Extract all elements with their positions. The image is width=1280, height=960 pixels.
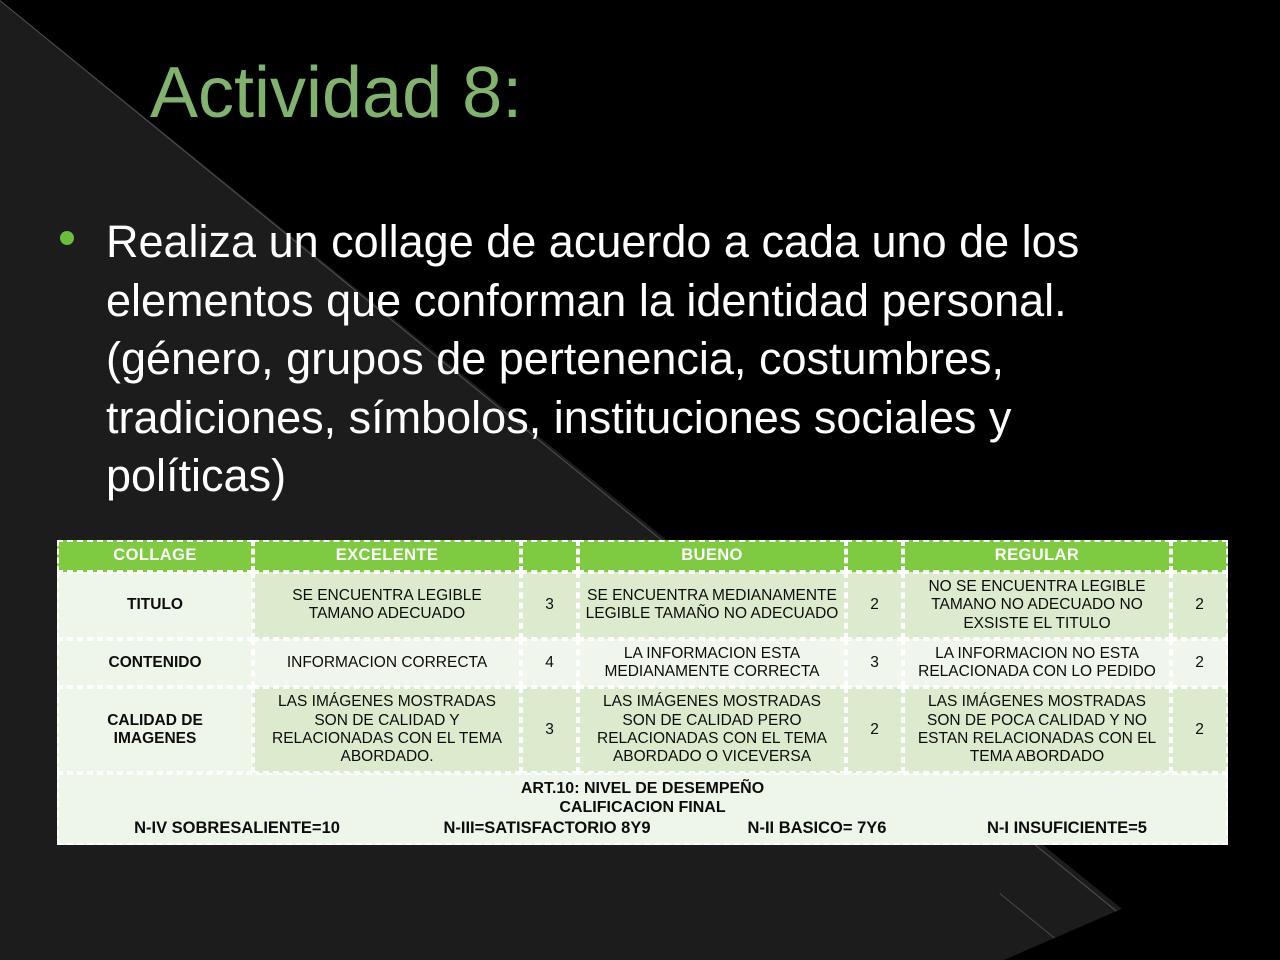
header-excelente: EXCELENTE <box>253 540 521 572</box>
slide-canvas: Actividad 8: Realiza un collage de acuer… <box>0 0 1280 960</box>
table-footer-row: ART.10: NIVEL DE DESEMPEÑO CALIFICACION … <box>57 773 1228 845</box>
cell-excelente: INFORMACION CORRECTA <box>253 639 521 688</box>
table-row: CALIDAD DE IMAGENES LAS IMÁGENES MOSTRAD… <box>57 687 1228 772</box>
row-criterion: TITULO <box>57 572 253 639</box>
cell-regular-score: 2 <box>1171 687 1228 772</box>
cell-excelente-score: 4 <box>521 639 578 688</box>
footer-line-desempeno: ART.10: NIVEL DE DESEMPEÑO <box>64 779 1221 799</box>
header-regular-score <box>1171 540 1228 572</box>
row-criterion: CALIDAD DE IMAGENES <box>57 687 253 772</box>
cell-bueno-score: 3 <box>846 639 903 688</box>
header-bueno: BUENO <box>578 540 846 572</box>
bullet-item-text: Realiza un collage de acuerdo a cada uno… <box>106 213 1200 506</box>
cell-regular-score: 2 <box>1171 639 1228 688</box>
cell-bueno: LA INFORMACION ESTA MEDIANAMENTE CORRECT… <box>578 639 846 688</box>
page-title: Actividad 8: <box>150 56 522 132</box>
cell-bueno: LAS IMÁGENES MOSTRADAS SON DE CALIDAD PE… <box>578 687 846 772</box>
scale-n4: N-IV SOBRESALIENTE=10 <box>72 818 402 839</box>
header-collage: COLLAGE <box>57 540 253 572</box>
scale-n1: N-I INSUFICIENTE=5 <box>942 818 1192 839</box>
cell-bueno-score: 2 <box>846 687 903 772</box>
header-excelente-score <box>521 540 578 572</box>
cell-excelente-score: 3 <box>521 572 578 639</box>
table-header-row: COLLAGE EXCELENTE BUENO REGULAR <box>57 540 1228 572</box>
bullet-list: Realiza un collage de acuerdo a cada uno… <box>60 213 1200 506</box>
rubric-footer: ART.10: NIVEL DE DESEMPEÑO CALIFICACION … <box>57 773 1228 845</box>
cell-excelente-score: 3 <box>521 687 578 772</box>
cell-regular-score: 2 <box>1171 572 1228 639</box>
cell-bueno-score: 2 <box>846 572 903 639</box>
header-regular: REGULAR <box>903 540 1171 572</box>
bullet-dot-icon <box>60 231 74 245</box>
cell-regular: LA INFORMACION NO ESTA RELACIONADA CON L… <box>903 639 1171 688</box>
footer-line-calificacion: CALIFICACION FINAL <box>64 798 1221 818</box>
header-bueno-score <box>846 540 903 572</box>
cell-excelente: LAS IMÁGENES MOSTRADAS SON DE CALIDAD Y … <box>253 687 521 772</box>
table-row: TITULO SE ENCUENTRA LEGIBLE TAMANO ADECU… <box>57 572 1228 639</box>
row-criterion: CONTENIDO <box>57 639 253 688</box>
bottom-right-corner-shape <box>980 840 1280 960</box>
cell-regular: NO SE ENCUENTRA LEGIBLE TAMANO NO ADECUA… <box>903 572 1171 639</box>
table-row: CONTENIDO INFORMACION CORRECTA 4 LA INFO… <box>57 639 1228 688</box>
cell-regular: LAS IMÁGENES MOSTRADAS SON DE POCA CALID… <box>903 687 1171 772</box>
footer-scale-row: N-IV SOBRESALIENTE=10 N-III=SATISFACTORI… <box>64 818 1221 839</box>
scale-n2: N-II BASICO= 7Y6 <box>692 818 942 839</box>
cell-excelente: SE ENCUENTRA LEGIBLE TAMANO ADECUADO <box>253 572 521 639</box>
cell-bueno: SE ENCUENTRA MEDIANAMENTE LEGIBLE TAMAÑO… <box>578 572 846 639</box>
scale-n3: N-III=SATISFACTORIO 8Y9 <box>402 818 692 839</box>
rubric-table: COLLAGE EXCELENTE BUENO REGULAR TITULO S… <box>57 540 1228 845</box>
